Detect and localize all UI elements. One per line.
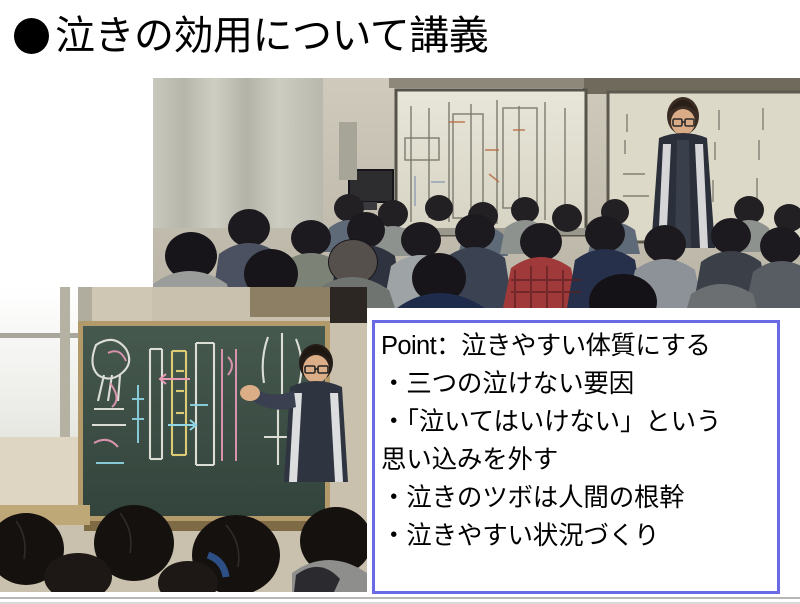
classroom-blackboard-photo-image <box>0 287 367 592</box>
lecture-hall-photo <box>153 78 800 308</box>
lecture-hall-photo-image <box>153 78 800 308</box>
point-line-2: ・「泣いてはいけない」という <box>381 403 773 441</box>
page-title-text: 泣きの効用について講義 <box>55 14 488 58</box>
page-title: 泣きの効用について講義 <box>14 8 488 64</box>
point-text-box: Point：泣きやすい体質にする ・三つの泣けない要因 ・「泣いてはいけない」と… <box>372 320 780 594</box>
slide-canvas: 泣きの効用について講義 <box>0 0 800 604</box>
point-line-0: Point：泣きやすい体質にする <box>381 327 773 365</box>
footer-divider <box>0 597 800 599</box>
classroom-blackboard-photo <box>0 287 367 592</box>
point-line-4: ・泣きのツボは人間の根幹 <box>381 479 773 517</box>
point-line-3: 思い込みを外す <box>381 441 773 479</box>
point-line-1: ・三つの泣けない要因 <box>381 365 773 403</box>
point-line-5: ・泣きやすい状況づくり <box>381 517 773 555</box>
filled-circle-bullet-icon <box>14 18 49 54</box>
